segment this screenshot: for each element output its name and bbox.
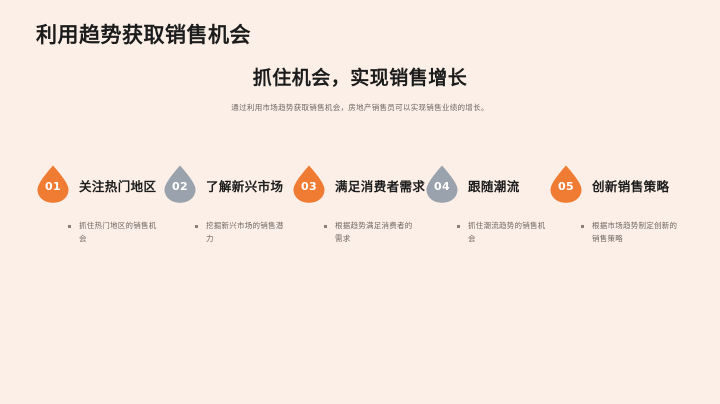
- bullet-square-icon: [581, 225, 584, 228]
- bullet-square-icon: [324, 225, 327, 228]
- step-number-label: 02: [172, 180, 188, 193]
- step-item[interactable]: 04跟随潮流抓住潮流趋势的销售机会: [425, 163, 552, 245]
- step-bullet-text: 抓住潮流趋势的销售机会: [468, 219, 552, 245]
- bullet-square-icon: [68, 225, 71, 228]
- headline: 抓住机会，实现销售增长: [0, 66, 720, 92]
- step-title: 创新销售策略: [592, 176, 669, 195]
- step-header: 01关注热门地区: [36, 163, 163, 205]
- step-bullet-row: 抓住潮流趋势的销售机会: [457, 219, 552, 245]
- step-bullet-text: 抓住热门地区的销售机会: [79, 219, 163, 245]
- step-title: 了解新兴市场: [206, 176, 283, 195]
- step-bullet-text: 根据趋势满足消费者的需求: [335, 219, 419, 245]
- step-header: 02了解新兴市场: [163, 163, 290, 205]
- step-header: 03满足消费者需求: [292, 163, 425, 205]
- step-number-label: 05: [558, 180, 574, 193]
- step-bullet-row: 根据市场趋势制定创新的销售策略: [581, 219, 681, 245]
- step-bullet-text: 挖掘新兴市场的销售潜力: [206, 219, 290, 245]
- step-number-badge: 05: [549, 164, 583, 204]
- headline-block: 抓住机会，实现销售增长 通过利用市场趋势获取销售机会，房地产销售员可以实现销售业…: [0, 66, 720, 113]
- step-item[interactable]: 02了解新兴市场挖掘新兴市场的销售潜力: [163, 163, 290, 245]
- step-bullet-text: 根据市场趋势制定创新的销售策略: [592, 219, 681, 245]
- step-title: 跟随潮流: [468, 176, 520, 195]
- step-number-badge: 04: [425, 164, 459, 204]
- step-title: 关注热门地区: [79, 176, 156, 195]
- step-number-badge: 03: [292, 164, 326, 204]
- step-header: 04跟随潮流: [425, 163, 552, 205]
- steps-row: 01关注热门地区抓住热门地区的销售机会02了解新兴市场挖掘新兴市场的销售潜力03…: [0, 163, 720, 273]
- step-number-badge: 02: [163, 164, 197, 204]
- step-bullet-row: 挖掘新兴市场的销售潜力: [195, 219, 290, 245]
- step-number-badge: 01: [36, 164, 70, 204]
- page-title: 利用趋势获取销售机会: [36, 22, 251, 49]
- bullet-square-icon: [457, 225, 460, 228]
- step-item[interactable]: 01关注热门地区抓住热门地区的销售机会: [36, 163, 163, 245]
- step-item[interactable]: 05创新销售策略根据市场趋势制定创新的销售策略: [549, 163, 681, 245]
- step-number-label: 01: [45, 180, 61, 193]
- step-item[interactable]: 03满足消费者需求根据趋势满足消费者的需求: [292, 163, 425, 245]
- step-header: 05创新销售策略: [549, 163, 681, 205]
- step-number-label: 03: [301, 180, 317, 193]
- bullet-square-icon: [195, 225, 198, 228]
- step-bullet-row: 抓住热门地区的销售机会: [68, 219, 163, 245]
- slide-canvas: 利用趋势获取销售机会 抓住机会，实现销售增长 通过利用市场趋势获取销售机会，房地…: [0, 0, 720, 404]
- subheadline: 通过利用市场趋势获取销售机会，房地产销售员可以实现销售业绩的增长。: [0, 103, 720, 114]
- step-number-label: 04: [434, 180, 450, 193]
- step-title: 满足消费者需求: [335, 176, 425, 195]
- step-bullet-row: 根据趋势满足消费者的需求: [324, 219, 419, 245]
